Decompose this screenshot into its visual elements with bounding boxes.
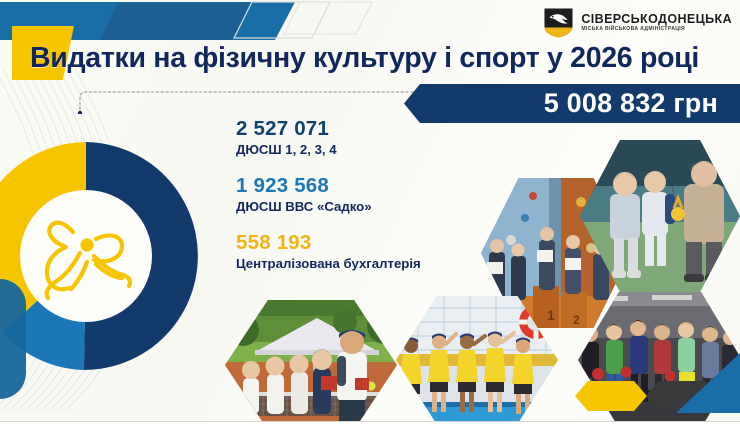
legend-label: ДЮСШ 1, 2, 3, 4	[236, 142, 486, 158]
legend-label: ДЮСШ ВВС «Садко»	[236, 199, 486, 215]
left-blue-accent	[0, 279, 26, 399]
shield-bird-emblem-icon	[542, 6, 575, 39]
legend-value: 558 193	[236, 232, 486, 255]
connector-line	[76, 88, 421, 114]
logo-subtitle: МІСЬКА ВІЙСЬКОВА АДМІНІСТРАЦІЯ	[581, 27, 732, 32]
logo-title: СІВЕРСЬКОДОНЕЦЬКА	[581, 13, 732, 26]
page-title: Видатки на фізичну культуру і спорт у 20…	[30, 42, 720, 75]
legend-value: 1 923 568	[236, 175, 486, 198]
legend: 2 527 071 ДЮСШ 1, 2, 3, 4 1 923 568 ДЮСШ…	[236, 118, 486, 288]
yellow-hex-decoration	[575, 381, 647, 411]
legend-label: Централізована бухгалтерія	[236, 256, 486, 272]
bottom-separator	[0, 421, 740, 427]
photo-tennis-lesson	[225, 300, 397, 427]
presentation-slide: СІВЕРСЬКОДОНЕЦЬКА МІСЬКА ВІЙСЬКОВА АДМІН…	[0, 0, 740, 427]
legend-item-accounting: 558 193 Централізована бухгалтерія	[236, 232, 486, 272]
legend-value: 2 527 071	[236, 118, 486, 141]
expenditure-donut-chart	[0, 140, 202, 372]
legend-item-dyussh: 2 527 071 ДЮСШ 1, 2, 3, 4	[236, 118, 486, 158]
svg-text:2: 2	[573, 313, 580, 327]
total-amount-value: 5 008 832 грн	[544, 88, 718, 119]
svg-text:1: 1	[547, 307, 555, 323]
legend-item-sadko: 1 923 568 ДЮСШ ВВС «Садко»	[236, 175, 486, 215]
organization-logo: СІВЕРСЬКОДОНЕЦЬКА МІСЬКА ВІЙСЬКОВА АДМІН…	[542, 6, 732, 39]
